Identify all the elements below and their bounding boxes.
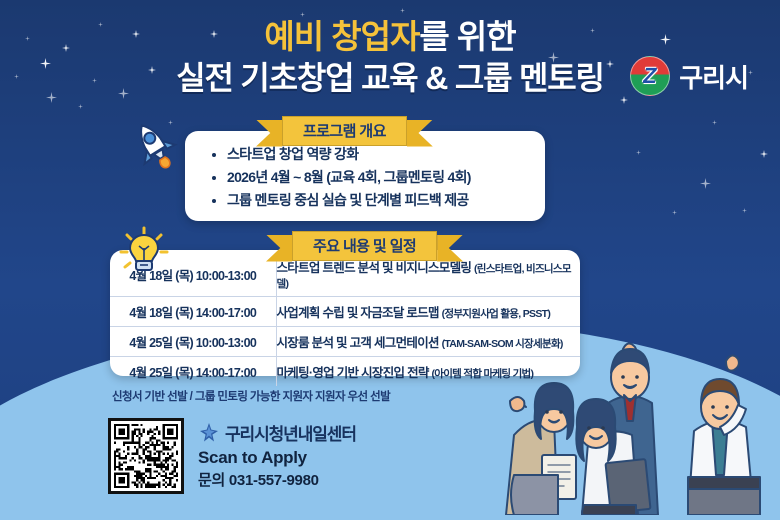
ribbon-tail-left	[266, 235, 292, 262]
city-logo: Z 구리시	[630, 56, 748, 96]
schedule-card: 4월 18일 (목) 10:00-13:00 스타트업 트렌드 분석 및 비지니…	[110, 250, 580, 376]
guri-city-emblem-icon: Z	[630, 56, 670, 96]
ribbon-tail-left	[256, 120, 282, 147]
selection-note: 신청서 기반 선발 / 그룹 민토링 가능한 지원자 지원자 우선 선발	[112, 388, 390, 404]
schedule-topic: 시장룸 분석 및 고객 세그먼테이션	[277, 336, 439, 350]
poster-root: 예비 창업자를 위한 실전 기초창업 교육 & 그룹 멘토링 Z 구리시 프로그…	[0, 0, 780, 520]
schedule-what: 사업계획 수립 및 자금조달 로드맵 (정부지원사업 활용, PSST)	[276, 297, 580, 327]
overview-banner: 프로그램 개요	[256, 117, 433, 144]
overview-banner-label: 프로그램 개요	[282, 116, 407, 146]
star-logo-icon	[198, 422, 220, 444]
list-item: 2026년 4월 ~ 8월 (교육 4회, 그룹멘토링 4회)	[227, 166, 545, 189]
org-row: 구리시청년내일센터	[198, 420, 356, 445]
schedule-what: 시장룸 분석 및 고객 세그먼테이션 (TAM-SAM-SOM 시장세분화)	[276, 327, 580, 357]
title-rest: 를 위한	[419, 18, 515, 55]
schedule-when: 4월 18일 (목) 14:00-17:00	[110, 297, 276, 327]
city-logo-label: 구리시	[679, 58, 748, 95]
org-name: 구리시청년내일센터	[225, 420, 356, 445]
table-row: 4월 25일 (목) 14:00-17:00 마케팅·영업 기반 시장진입 전략…	[110, 357, 580, 387]
schedule-subtopic: (TAM-SAM-SOM 시장세분화)	[442, 338, 563, 350]
scan-label: Scan to Apply	[198, 448, 356, 468]
footer: 구리시청년내일센터 Scan to Apply 문의 031-557-9980	[108, 418, 356, 494]
schedule-when: 4월 25일 (목) 14:00-17:00	[110, 357, 276, 387]
list-item: 그룹 멘토링 중심 실습 및 단계별 피드백 제공	[227, 189, 545, 212]
schedule-table: 4월 18일 (목) 10:00-13:00 스타트업 트렌드 분석 및 비지니…	[110, 252, 580, 386]
title-highlight: 예비 창업자	[264, 18, 419, 55]
table-row: 4월 25일 (목) 10:00-13:00 시장룸 분석 및 고객 세그먼테이…	[110, 327, 580, 357]
schedule-topic: 사업계획 수립 및 자금조달 로드맵	[277, 306, 439, 320]
emblem-z-mark: Z	[642, 65, 659, 87]
footer-text: 구리시청년내일센터 Scan to Apply 문의 031-557-9980	[198, 418, 356, 494]
rocket-icon	[125, 118, 183, 177]
schedule-banner: 주요 내용 및 일정	[266, 232, 463, 259]
schedule-subtopic: (아이템 적합 마케팅 기법)	[431, 368, 533, 380]
contact-phone: 문의 031-557-9980	[198, 469, 356, 490]
ribbon-tail-right	[437, 235, 463, 262]
lightbulb-icon	[118, 226, 170, 283]
schedule-what: 마케팅·영업 기반 시장진입 전략 (아이템 적합 마케팅 기법)	[276, 357, 580, 387]
schedule-banner-label: 주요 내용 및 일정	[292, 231, 437, 261]
schedule-when: 4월 25일 (목) 10:00-13:00	[110, 327, 276, 357]
schedule-topic: 마케팅·영업 기반 시장진입 전략	[277, 366, 429, 380]
title-line-1: 예비 창업자를 위한	[0, 18, 780, 57]
ribbon-tail-right	[407, 120, 433, 147]
qr-code-icon[interactable]	[108, 418, 184, 494]
table-row: 4월 18일 (목) 14:00-17:00 사업계획 수립 및 자금조달 로드…	[110, 297, 580, 327]
schedule-subtopic: (정부지원사업 활용, PSST)	[442, 308, 551, 320]
schedule-topic: 스타트업 트렌드 분석 및 비지니스모델링	[277, 261, 472, 275]
